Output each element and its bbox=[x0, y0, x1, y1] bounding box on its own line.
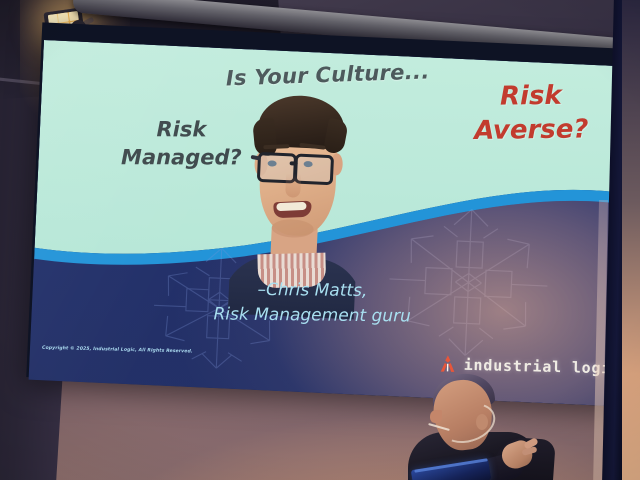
slide-right-question-line2: Averse? bbox=[436, 113, 626, 149]
portrait-nose bbox=[285, 173, 301, 198]
slide-attribution: –Chris Matts, Risk Management guru bbox=[152, 277, 472, 330]
portrait-eyeglasses-bridge bbox=[290, 161, 298, 165]
slide-left-question-line1: Risk bbox=[101, 116, 261, 144]
right-wall-glow bbox=[622, 0, 640, 480]
slide-attribution-name: –Chris Matts, bbox=[152, 277, 472, 305]
slide-right-question: Risk Averse? bbox=[436, 79, 627, 149]
portrait-teeth bbox=[276, 202, 306, 211]
slide-attribution-role: Risk Management guru bbox=[152, 301, 472, 329]
projected-slide: Is Your Culture... Risk Managed? Risk Av… bbox=[29, 40, 640, 407]
slide-left-question-line2: Managed? bbox=[101, 144, 261, 172]
presentation-photo-scene: Is Your Culture... Risk Managed? Risk Av… bbox=[0, 0, 640, 480]
presenter bbox=[398, 372, 608, 480]
portrait-mouth bbox=[273, 201, 312, 219]
presenter-nose bbox=[430, 410, 442, 423]
slide-right-question-line1: Risk bbox=[436, 79, 626, 115]
slide-left-question: Risk Managed? bbox=[101, 116, 261, 172]
